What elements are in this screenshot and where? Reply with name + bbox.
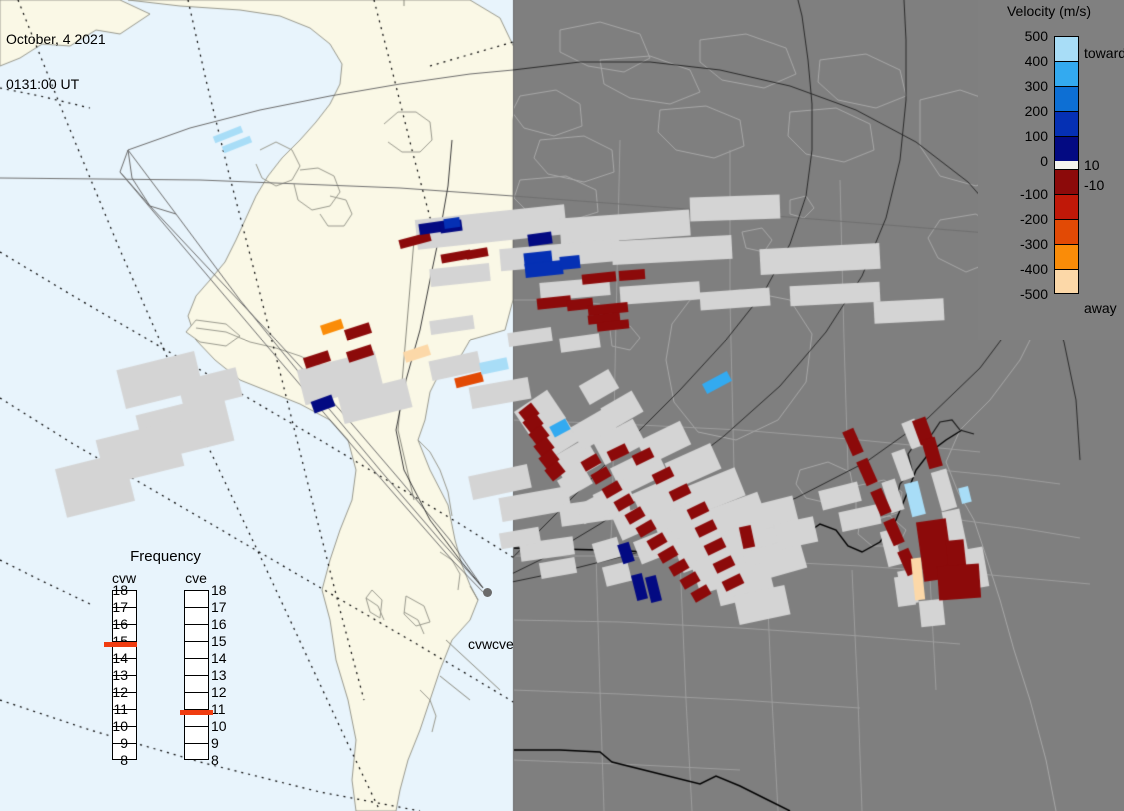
colorbar-tick--100: -100 <box>1000 186 1048 202</box>
frequency-tick-12: 12 <box>211 685 233 699</box>
colorbar-band--350 <box>1054 244 1079 269</box>
colorbar-band-50 <box>1054 136 1079 161</box>
colorbar-right-labels: toward10-10away <box>1084 0 1124 340</box>
frequency-tick-10: 10 <box>106 719 128 733</box>
frequency-tick-8: 8 <box>106 753 128 767</box>
radar-site-label-cve: cve <box>492 636 514 652</box>
frequency-segment <box>185 642 208 659</box>
colorbar-tick-400: 400 <box>1000 53 1048 69</box>
colorbar-band-450 <box>1054 36 1079 61</box>
colorbar-tick-100: 100 <box>1000 128 1048 144</box>
frequency-legend: Frequency cvw 18171615141312111098 cve 1… <box>88 548 258 788</box>
colorbar-tick-300: 300 <box>1000 78 1048 94</box>
colorbar-label-away: away <box>1084 300 1117 316</box>
colorbar-band-150 <box>1054 111 1079 136</box>
frequency-tick-16: 16 <box>211 617 233 631</box>
frequency-tick-18: 18 <box>211 583 233 597</box>
colorbar-tick--200: -200 <box>1000 211 1048 227</box>
colorbar-band--450 <box>1054 269 1079 294</box>
frequency-tick-12: 12 <box>106 685 128 699</box>
superdarn-velocity-map: October, 4 2021 0131:00 UT Velocity (m/s… <box>0 0 1124 811</box>
frequency-segment <box>185 608 208 625</box>
frequency-gauge-cve: cve 18171615141312111098 <box>166 570 226 786</box>
timestamp-date: October, 4 2021 <box>6 32 106 47</box>
frequency-segment <box>185 591 208 608</box>
colorbar-gradient <box>1054 36 1079 294</box>
radar-site-label-cvw: cvw <box>468 636 492 652</box>
frequency-tick-11: 11 <box>106 702 128 716</box>
frequency-tick-13: 13 <box>211 668 233 682</box>
colorbar-tick--400: -400 <box>1000 261 1048 277</box>
frequency-segment <box>185 727 208 744</box>
frequency-tick-13: 13 <box>106 668 128 682</box>
colorbar-tick-500: 500 <box>1000 28 1048 44</box>
timestamp: October, 4 2021 0131:00 UT <box>6 2 106 122</box>
frequency-tick-14: 14 <box>211 651 233 665</box>
colorbar-label-neg-threshold: -10 <box>1084 177 1104 193</box>
colorbar-band--150 <box>1054 194 1079 219</box>
frequency-segment <box>185 625 208 642</box>
colorbar-zero-band <box>1054 161 1079 169</box>
colorbar-tick--500: -500 <box>1000 286 1048 302</box>
colorbar-band--250 <box>1054 219 1079 244</box>
frequency-marker-cve <box>180 710 213 715</box>
colorbar-label-pos-threshold: 10 <box>1084 157 1100 173</box>
frequency-marker-cvw <box>104 642 137 647</box>
colorbar-tick-0: 0 <box>1000 153 1048 169</box>
frequency-tick-17: 17 <box>211 600 233 614</box>
frequency-segment <box>185 693 208 710</box>
frequency-segment <box>185 659 208 676</box>
colorbar-band--50 <box>1054 169 1079 194</box>
frequency-gauge-cvw: cvw 18171615141312111098 <box>94 570 154 786</box>
colorbar-left-ticks: 5004003002001000-100-200-300-400-500 <box>1000 0 1048 340</box>
timestamp-time: 0131:00 UT <box>6 77 106 92</box>
frequency-legend-title: Frequency <box>88 548 243 565</box>
frequency-tick-8: 8 <box>211 753 233 767</box>
frequency-gauge-cve-scale <box>184 590 209 760</box>
frequency-tick-17: 17 <box>106 600 128 614</box>
frequency-tick-15: 15 <box>211 634 233 648</box>
frequency-tick-9: 9 <box>211 736 233 750</box>
frequency-tick-14: 14 <box>106 651 128 665</box>
frequency-gauge-cvw-ticks: 18171615141312111098 <box>84 590 106 760</box>
frequency-segment <box>185 676 208 693</box>
frequency-tick-16: 16 <box>106 617 128 631</box>
colorbar-tick-200: 200 <box>1000 103 1048 119</box>
colorbar-label-toward: toward <box>1084 45 1124 61</box>
frequency-tick-10: 10 <box>211 719 233 733</box>
frequency-tick-11: 11 <box>211 702 233 716</box>
colorbar-tick--300: -300 <box>1000 236 1048 252</box>
frequency-tick-18: 18 <box>106 583 128 597</box>
radar-site-dot <box>483 588 492 597</box>
frequency-tick-9: 9 <box>106 736 128 750</box>
frequency-gauge-cve-ticks: 18171615141312111098 <box>211 590 233 760</box>
frequency-segment <box>185 744 208 761</box>
colorbar-band-250 <box>1054 86 1079 111</box>
colorbar-band-350 <box>1054 61 1079 86</box>
